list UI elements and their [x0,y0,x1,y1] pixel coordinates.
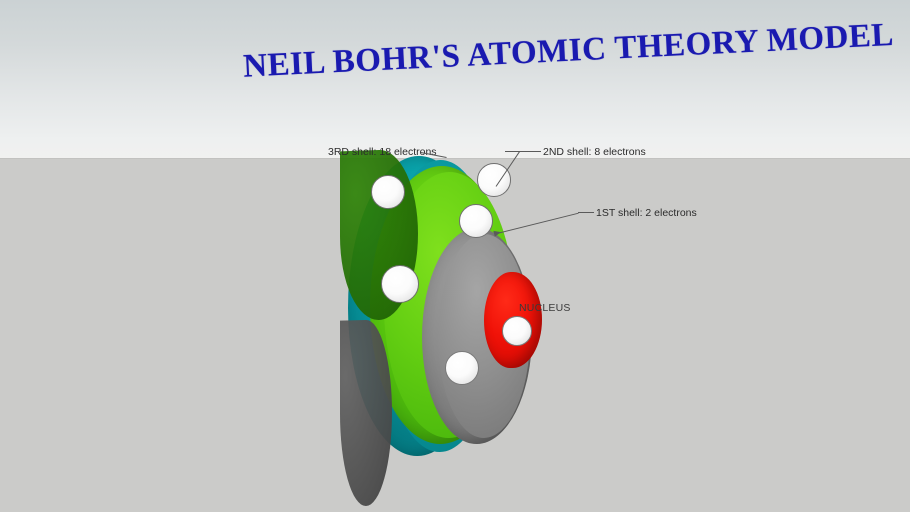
electron-sphere [502,316,532,346]
callout-label-shell-2: 2ND shell: 8 electrons [543,146,646,158]
sketchup-3d-viewport: NEIL BOHR'S ATOMIC THEORY MODEL 3RD shel… [0,0,910,512]
electron-sphere [381,265,419,303]
electron-sphere [371,175,405,209]
leader-line-shell-1-horizontal [578,212,594,213]
callout-label-shell-1: 1ST shell: 2 electrons [596,207,697,219]
electron-sphere [477,163,511,197]
electron-sphere [445,351,479,385]
electron-sphere [459,204,493,238]
leader-line-shell-2-horizontal [505,151,541,152]
callout-label-nucleus: NUCLEUS [519,302,571,314]
shell-1-gray-shadow [340,319,392,506]
